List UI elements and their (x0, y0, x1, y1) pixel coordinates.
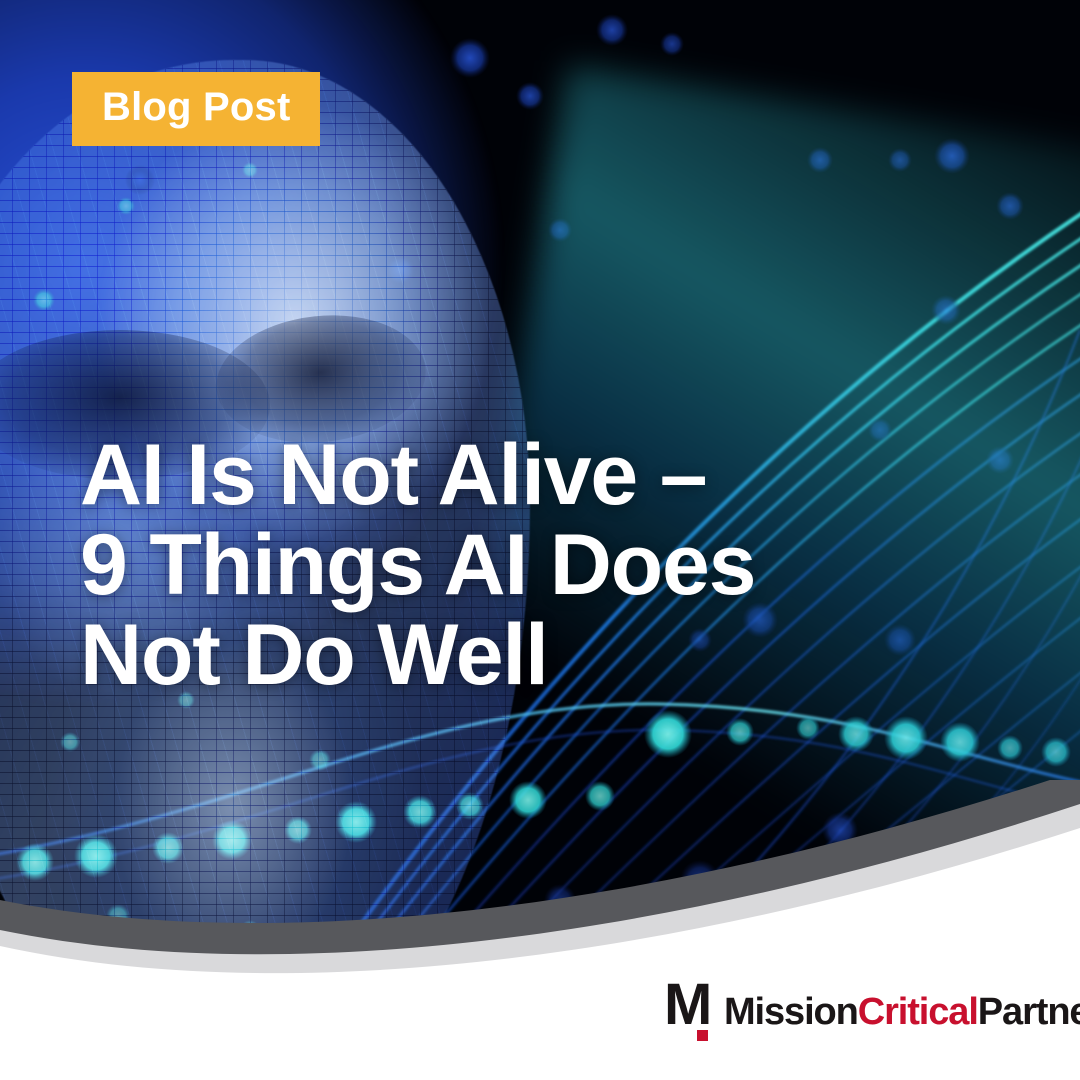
logo-word-partners: Partners (978, 991, 1080, 1033)
logo-red-square (697, 1030, 708, 1041)
logo-wordmark: MissionCriticalPartners (724, 993, 1080, 1034)
social-card: Blog Post AI Is Not Alive – 9 Things AI … (0, 0, 1080, 1080)
logo-word-critical: Critical (858, 991, 978, 1033)
logo-word-mission: Mission (724, 991, 858, 1033)
page-title: AI Is Not Alive – 9 Things AI Does Not D… (80, 430, 920, 701)
blog-post-badge: Blog Post (72, 72, 320, 146)
logo-m-letter: M (664, 982, 710, 1027)
footer-curve (0, 780, 1080, 1080)
logo-m-mark: M (664, 982, 710, 1034)
brand-logo: M MissionCriticalPartners (664, 982, 1080, 1034)
